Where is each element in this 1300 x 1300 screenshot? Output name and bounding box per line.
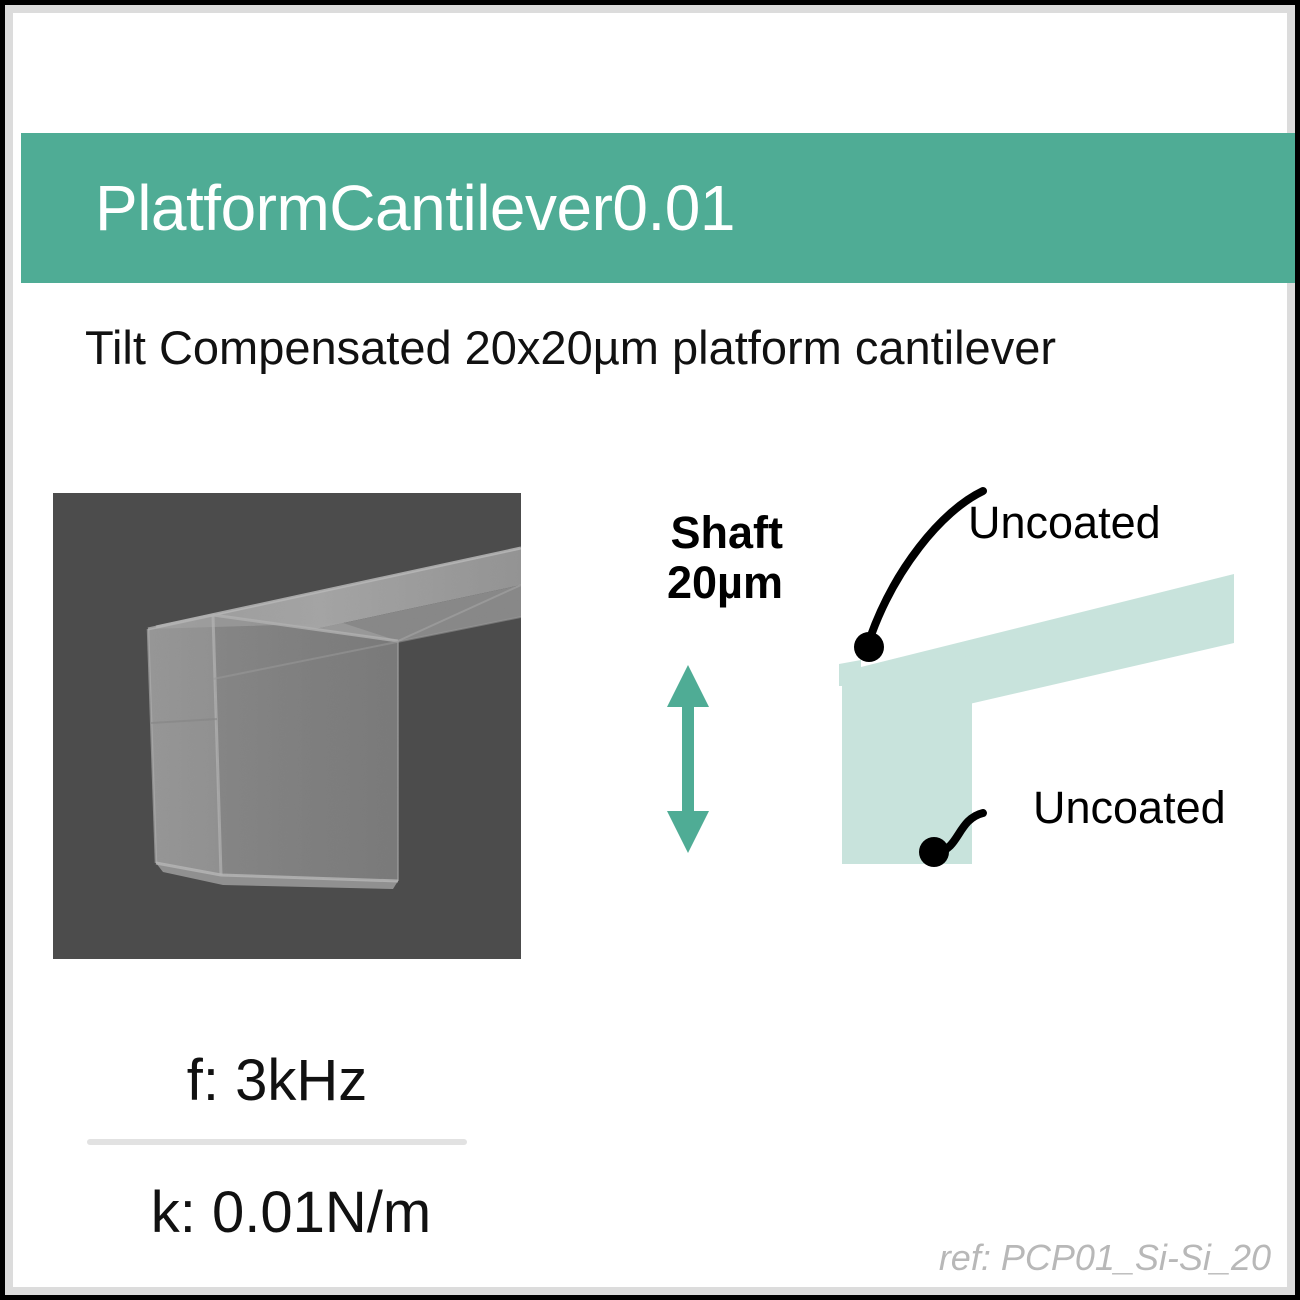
callout-dot-bottom [919,837,949,867]
card-content: PlatformCantilever0.01 Tilt Compensated … [21,21,1295,1295]
product-card: PlatformCantilever0.01 Tilt Compensated … [0,0,1300,1300]
product-subtitle: Tilt Compensated 20x20µm platform cantil… [85,321,1265,375]
sem-micrograph-cantilever [53,493,521,959]
spec-divider [87,1139,467,1145]
spec-frequency: f: 3kHz [87,1047,467,1114]
title-bar: PlatformCantilever0.01 [21,133,1295,283]
sem-micrograph-svg [53,493,521,959]
shaft-label-line2: 20µm [561,558,783,608]
page-title: PlatformCantilever0.01 [95,176,735,240]
shaft-dimension-label: Shaft 20µm [561,508,783,607]
callout-line-top [869,491,983,641]
uncoated-label-bottom: Uncoated [1033,782,1226,834]
shaft-label-line1: Shaft [561,508,783,558]
spec-stiffness: k: 0.01N/m [81,1179,501,1246]
double-arrow-icon [653,663,723,855]
callout-dot-top [854,632,884,662]
card-inner-frame: PlatformCantilever0.01 Tilt Compensated … [5,5,1295,1295]
reference-code: ref: PCP01_Si-Si_20 [939,1237,1271,1279]
uncoated-label-top: Uncoated [968,497,1161,549]
